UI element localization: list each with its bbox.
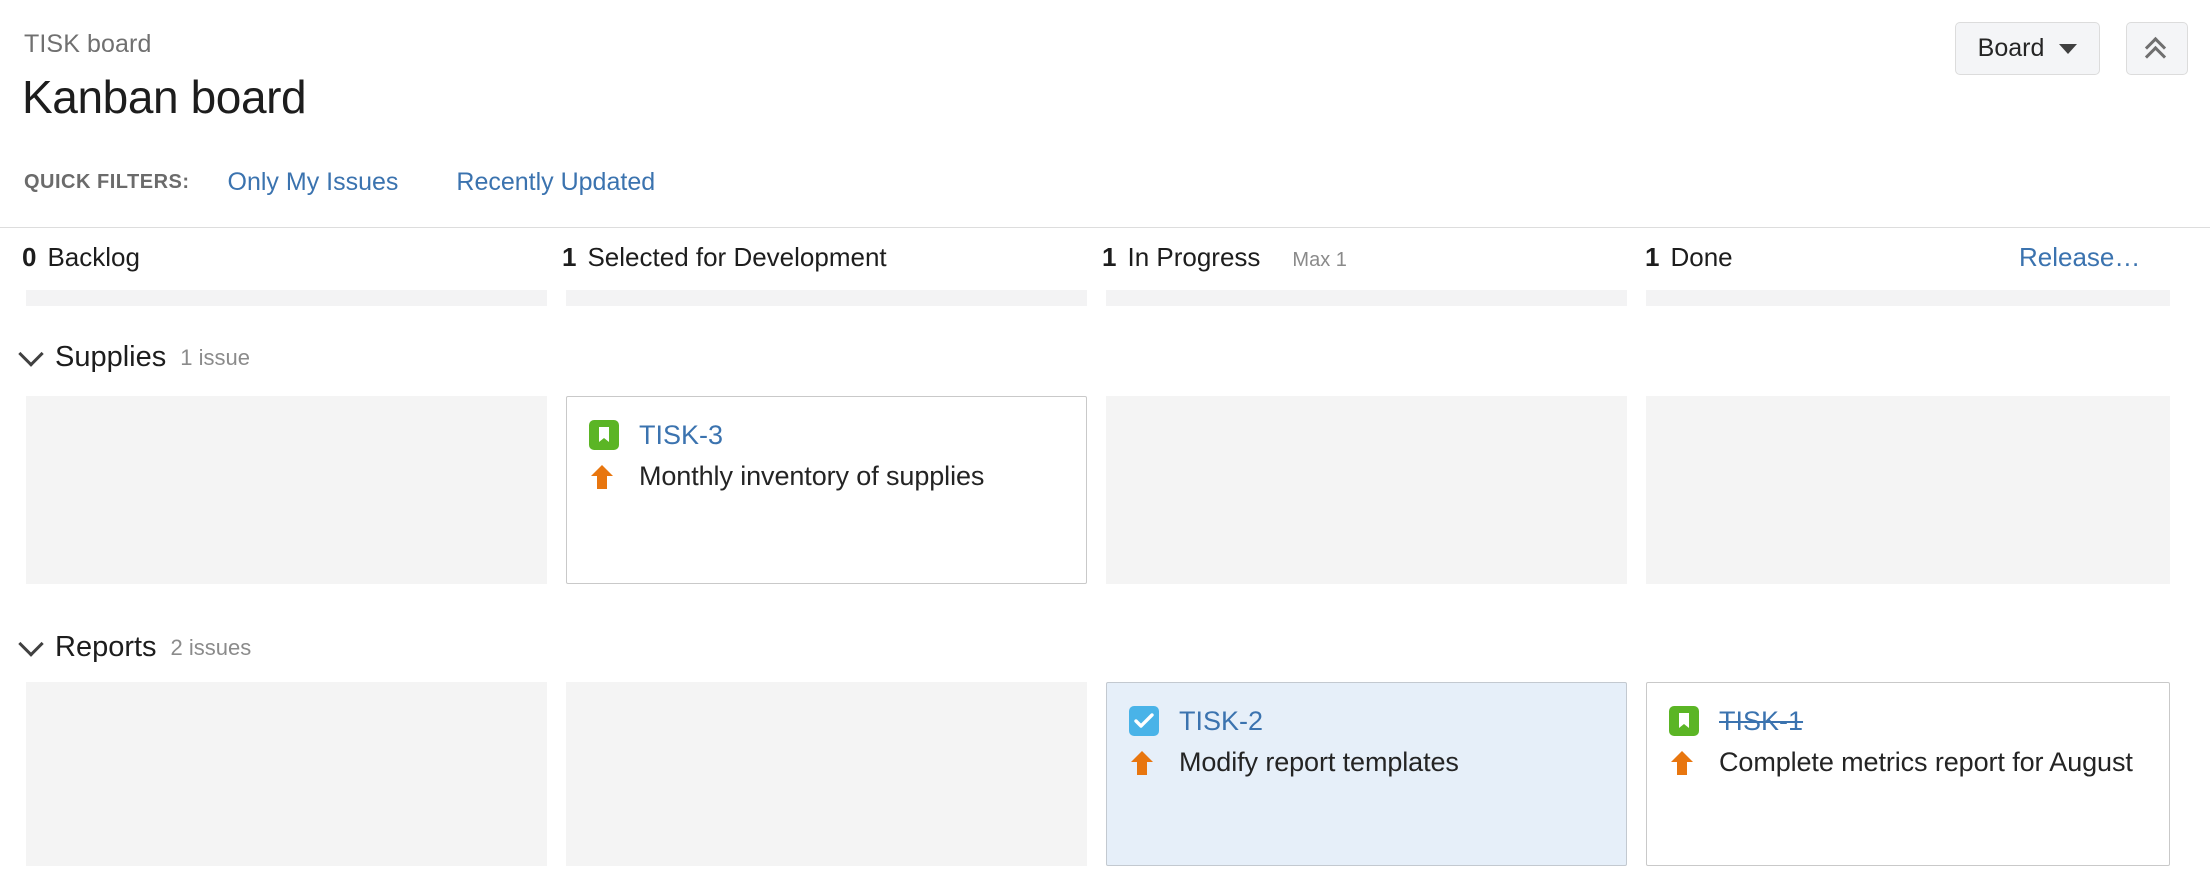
column-strip-in-progress — [1106, 290, 1627, 306]
column-count: 0 — [22, 242, 36, 273]
dropzone-supplies-done[interactable] — [1646, 396, 2170, 584]
priority-major-up-arrow-icon — [1129, 745, 1159, 782]
dropzone-reports-selected-for-development[interactable] — [566, 682, 1087, 866]
issue-summary: Monthly inventory of supplies — [639, 459, 984, 495]
issue-key[interactable]: TISK-3 — [639, 420, 723, 451]
column-name: Backlog — [47, 242, 140, 273]
column-name: In Progress — [1127, 242, 1260, 273]
column-header-row: 0 Backlog 1 Selected for Development 1 I… — [0, 228, 2210, 282]
task-check-icon — [1129, 706, 1159, 736]
story-bookmark-icon — [589, 420, 619, 450]
page-title: Kanban board — [22, 70, 306, 124]
column-name: Selected for Development — [587, 242, 886, 273]
priority-major-up-arrow-icon — [1669, 745, 1699, 782]
issue-summary: Complete metrics report for August — [1719, 745, 2133, 781]
issue-card-tisk-1[interactable]: TISK-1 Complete metrics report for Augus… — [1646, 682, 2170, 866]
column-header-in-progress[interactable]: 1 In Progress Max 1 — [1102, 242, 1347, 273]
column-header-backlog[interactable]: 0 Backlog — [22, 242, 172, 273]
board-dropdown-button[interactable]: Board — [1955, 22, 2100, 75]
dropzone-supplies-backlog[interactable] — [26, 396, 547, 584]
swimlane-name: Supplies — [55, 341, 166, 374]
issue-card-tisk-2[interactable]: TISK-2 Modify report templates — [1106, 682, 1627, 866]
column-count: 1 — [1645, 242, 1659, 273]
swimlane-header-reports[interactable]: Reports 2 issues — [22, 631, 251, 664]
issue-summary: Modify report templates — [1179, 745, 1459, 781]
kanban-board-page: TISK board Kanban board QUICK FILTERS: O… — [0, 0, 2210, 890]
priority-major-up-arrow-icon — [589, 459, 619, 496]
column-header-selected-for-development[interactable]: 1 Selected for Development — [562, 242, 919, 273]
swimlane-name: Reports — [55, 631, 157, 664]
column-header-done[interactable]: 1 Done — [1645, 242, 1765, 273]
quick-filters-label: QUICK FILTERS: — [24, 171, 190, 194]
column-strip-backlog — [26, 290, 547, 306]
double-chevron-up-icon — [2144, 38, 2170, 60]
board-header: TISK board Kanban board QUICK FILTERS: O… — [0, 0, 2210, 228]
breadcrumb[interactable]: TISK board — [24, 30, 151, 59]
story-bookmark-icon — [1669, 706, 1699, 736]
swimlane-count: 1 issue — [180, 345, 250, 371]
column-name: Done — [1670, 242, 1732, 273]
quick-filters: QUICK FILTERS: Only My Issues Recently U… — [24, 168, 713, 197]
chevron-down-icon — [2059, 44, 2077, 54]
issue-card-tisk-3[interactable]: TISK-3 Monthly inventory of supplies — [566, 396, 1087, 584]
collapse-header-button[interactable] — [2126, 22, 2188, 75]
column-count: 1 — [1102, 242, 1116, 273]
dropzone-reports-backlog[interactable] — [26, 682, 547, 866]
chevron-down-icon[interactable] — [18, 341, 43, 366]
column-strip-selected-for-development — [566, 290, 1087, 306]
column-max-constraint: Max 1 — [1292, 249, 1346, 272]
issue-key[interactable]: TISK-2 — [1179, 706, 1263, 737]
board-body: 0 Backlog 1 Selected for Development 1 I… — [0, 228, 2210, 890]
issue-key[interactable]: TISK-1 — [1719, 706, 1803, 737]
quick-filter-only-my-issues[interactable]: Only My Issues — [228, 168, 399, 197]
column-strip-done — [1646, 290, 2170, 306]
swimlane-header-supplies[interactable]: Supplies 1 issue — [22, 341, 250, 374]
header-actions: Board — [1955, 22, 2188, 75]
board-dropdown-label: Board — [1978, 34, 2045, 63]
chevron-down-icon[interactable] — [18, 631, 43, 656]
dropzone-supplies-in-progress[interactable] — [1106, 396, 1627, 584]
swimlane-count: 2 issues — [171, 635, 252, 661]
column-count: 1 — [562, 242, 576, 273]
quick-filter-recently-updated[interactable]: Recently Updated — [456, 168, 655, 197]
release-link[interactable]: Release… — [2019, 242, 2140, 273]
